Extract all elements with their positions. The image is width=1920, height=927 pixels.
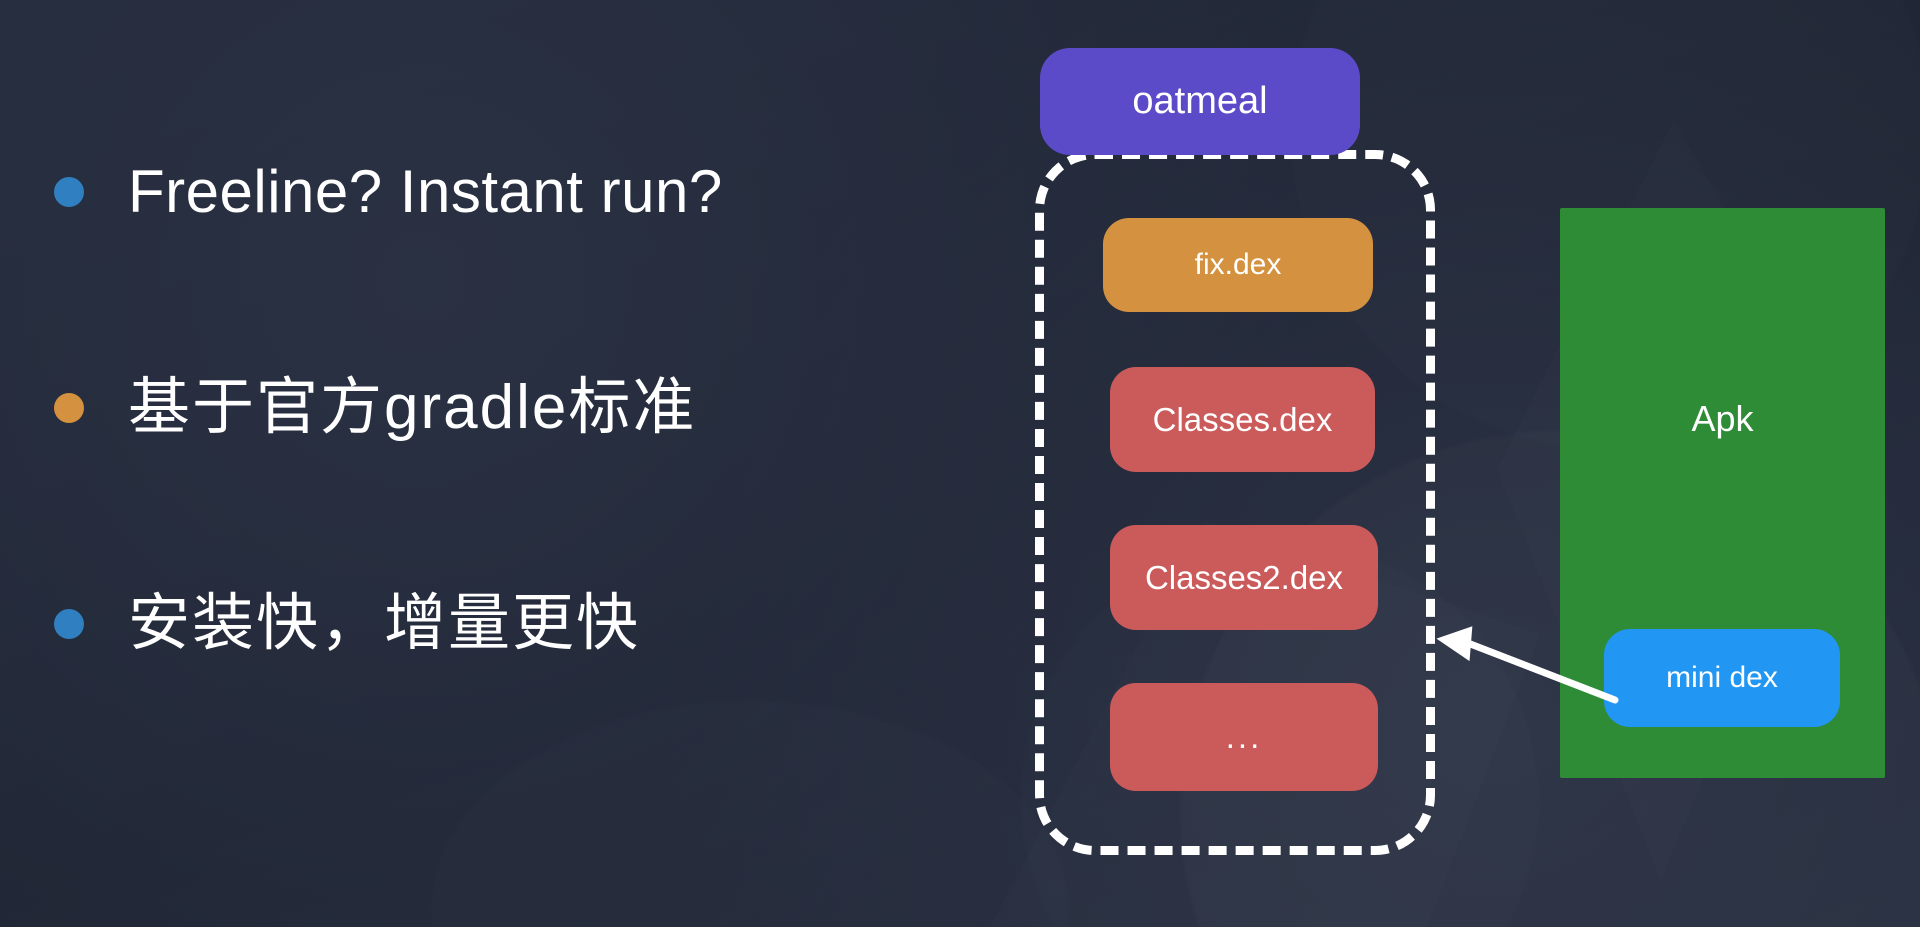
bullet-item-speed: 安装快，增量更快: [40, 562, 880, 686]
node-mini-dex: mini dex: [1604, 629, 1840, 727]
bullet-list: Freeline? Instant run? 基于官方gradle标准 安装快，…: [40, 130, 880, 686]
node-mini-dex-label: mini dex: [1666, 661, 1778, 695]
node-classes2-dex-label: Classes2.dex: [1145, 559, 1343, 597]
node-more-dex-label: ...: [1226, 718, 1263, 756]
node-fix-dex: fix.dex: [1103, 218, 1373, 312]
node-classes-dex: Classes.dex: [1110, 367, 1375, 472]
bullet-dot-icon: [54, 393, 84, 423]
node-oatmeal-label: oatmeal: [1132, 80, 1267, 123]
bullet-label-gradle: 基于官方gradle标准: [128, 374, 696, 442]
minidex-to-group-arrow-icon: [1430, 620, 1620, 710]
node-classes2-dex: Classes2.dex: [1110, 525, 1378, 630]
node-classes-dex-label: Classes.dex: [1153, 401, 1333, 439]
node-apk-label: Apk: [1691, 398, 1753, 440]
bullet-dot-icon: [54, 609, 84, 639]
bullet-label-speed: 安装快，增量更快: [128, 590, 640, 658]
bullet-dot-icon: [54, 177, 84, 207]
node-fix-dex-label: fix.dex: [1195, 248, 1282, 282]
bullet-item-gradle: 基于官方gradle标准: [40, 346, 880, 470]
node-oatmeal: oatmeal: [1040, 48, 1360, 155]
node-more-dex: ...: [1110, 683, 1378, 791]
bullet-item-freeline: Freeline? Instant run?: [40, 130, 880, 254]
bullet-label-freeline: Freeline? Instant run?: [128, 159, 723, 225]
slide-canvas: Freeline? Instant run? 基于官方gradle标准 安装快，…: [0, 0, 1920, 927]
